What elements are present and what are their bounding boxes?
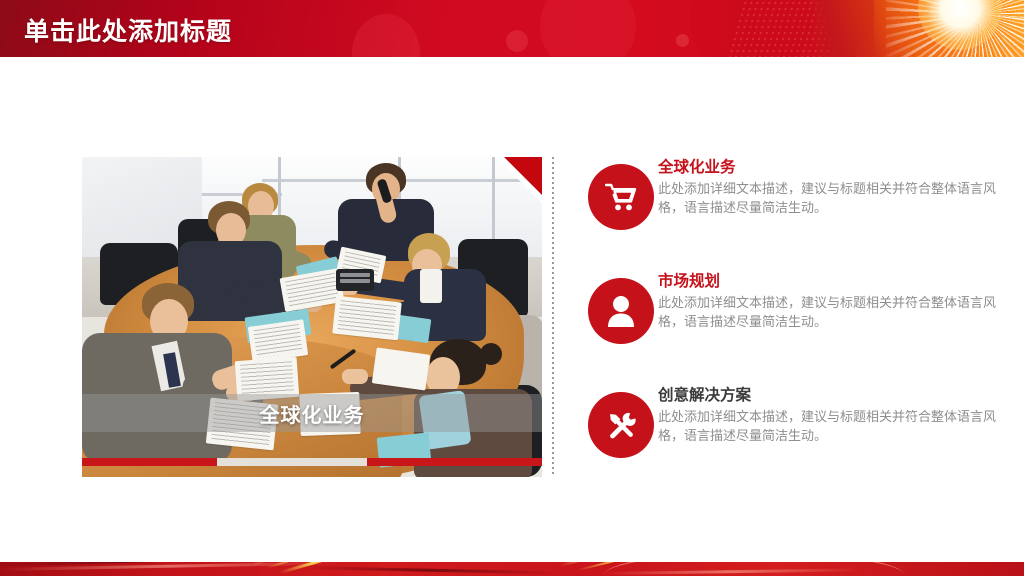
feature-text: 创意解决方案 此处添加详细文本描述，建议与标题相关并符合整体语言风格，语言描述尽… — [658, 386, 998, 445]
feature-text: 全球化业务 此处添加详细文本描述，建议与标题相关并符合整体语言风格，语言描述尽量… — [658, 158, 998, 217]
feature-item-creative-solutions[interactable]: 创意解决方案 此处添加详细文本描述，建议与标题相关并符合整体语言风格，语言描述尽… — [588, 386, 998, 500]
feature-description: 此处添加详细文本描述，建议与标题相关并符合整体语言风格，语言描述尽量简洁生动。 — [658, 293, 998, 331]
slide-title[interactable]: 单击此处添加标题 — [24, 12, 232, 48]
photo-block[interactable]: 全球化业务 — [82, 157, 542, 477]
feature-icon-circle[interactable] — [588, 278, 654, 344]
feature-description: 此处添加详细文本描述，建议与标题相关并符合整体语言风格，语言描述尽量简洁生动。 — [658, 179, 998, 217]
header-decor-dot — [676, 34, 689, 47]
footer-ribbon-streak — [300, 566, 560, 574]
photo-bottom-bar — [82, 458, 542, 466]
document-paper — [372, 347, 430, 390]
boardroom-meeting-photo[interactable]: 全球化业务 — [82, 157, 542, 477]
footer-arc-decoration — [604, 562, 904, 576]
slide-header-banner: 单击此处添加标题 — [0, 0, 1024, 57]
feature-icon-circle[interactable] — [588, 164, 654, 230]
header-decor-circle — [352, 14, 420, 57]
photo-corner-red-triangle — [504, 157, 542, 195]
photo-bar-segment-right — [367, 458, 542, 466]
document-paper — [332, 296, 402, 341]
feature-description: 此处添加详细文本描述，建议与标题相关并符合整体语言风格，语言描述尽量简洁生动。 — [658, 407, 998, 445]
feature-list: 全球化业务 此处添加详细文本描述，建议与标题相关并符合整体语言风格，语言描述尽量… — [588, 158, 998, 500]
feature-text: 市场规划 此处添加详细文本描述，建议与标题相关并符合整体语言风格，语言描述尽量简… — [658, 272, 998, 331]
document-paper — [248, 319, 308, 362]
photo-bar-segment-middle — [217, 458, 367, 466]
photo-bar-segment-left — [82, 458, 217, 466]
shirt-collar — [420, 269, 442, 303]
feature-title: 市场规划 — [658, 272, 998, 292]
user-person-icon — [607, 295, 635, 327]
presentation-slide: 单击此处添加标题 — [0, 0, 1024, 576]
tools-wrench-screwdriver-icon — [604, 408, 638, 442]
slide-footer-ribbon — [0, 562, 1024, 576]
feature-icon-circle[interactable] — [588, 392, 654, 458]
feature-item-global-business[interactable]: 全球化业务 此处添加详细文本描述，建议与标题相关并符合整体语言风格，语言描述尽量… — [588, 158, 998, 272]
vertical-dotted-divider — [552, 157, 554, 475]
feature-title: 全球化业务 — [658, 158, 998, 178]
hair-bun — [480, 343, 502, 365]
feature-item-market-planning[interactable]: 市场规划 此处添加详细文本描述，建议与标题相关并符合整体语言风格，语言描述尽量简… — [588, 272, 998, 386]
feature-title: 创意解决方案 — [658, 386, 998, 406]
photo-caption: 全球化业务 — [82, 394, 542, 432]
window-mullion — [492, 157, 495, 247]
header-decor-circle — [540, 0, 636, 57]
header-decor-dot — [506, 30, 528, 52]
shopping-cart-icon — [605, 182, 637, 212]
